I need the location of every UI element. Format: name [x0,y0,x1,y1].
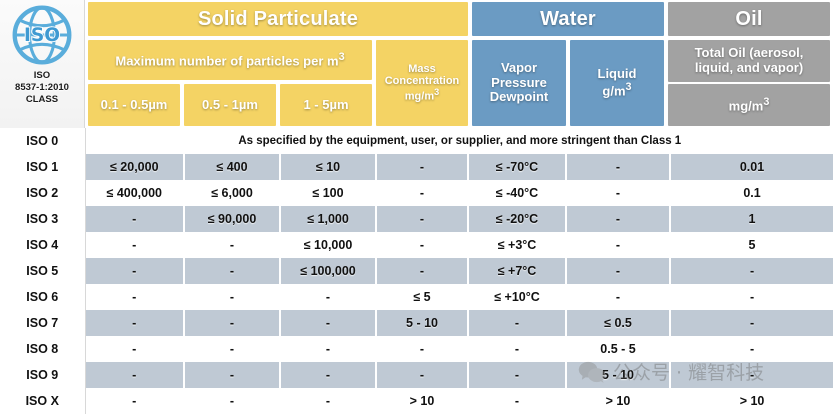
cell-size-1-5: ≤ 10,000 [280,232,376,258]
cell-liquid: - [566,180,670,206]
group-header-solid-particulate-label: Solid Particulate [198,8,358,30]
cell-size-0-5-1: - [184,362,280,388]
cell-dewpoint: ≤ -70°C [468,154,566,180]
cell-size-0-1-0-5: - [85,362,184,388]
cell-size-0-1-0-5: - [85,310,184,336]
iso-caption-line-3: CLASS [15,94,69,106]
cell-size-1-5: ≤ 1,000 [280,206,376,232]
subheader-max-particles-sup: 3 [339,51,345,63]
cell-iso-class: ISO 4 [0,232,85,258]
cell-iso-class: ISO 6 [0,284,85,310]
cell-total-oil: - [670,284,834,310]
cell-iso-class: ISO 7 [0,310,85,336]
liquid-line-2: g/m [602,84,625,99]
mass-concentration-line-2: Concentration [385,75,460,87]
column-header-size-1-5: 1 - 5µm [280,84,372,126]
total-oil-units: mg/m [729,98,764,113]
cell-mass-concentration: - [376,362,468,388]
cell-mass-concentration: ≤ 5 [376,284,468,310]
iso-standard-caption: ISO 8537-1:2010 CLASS [15,70,69,106]
cell-iso-class: ISO X [0,388,85,414]
column-header-total-oil-units: mg/m3 [668,84,830,126]
column-header-size-0-1-0-5-label: 0.1 - 0.5µm [101,98,168,113]
table-row: ISO X---> 10-> 10> 10 [0,388,834,414]
cell-iso-class: ISO 8 [0,336,85,362]
cell-liquid: > 10 [566,388,670,414]
cell-size-0-1-0-5: ≤ 400,000 [85,180,184,206]
group-header-water: Water [472,2,664,36]
column-header-vapor-pressure-dewpoint: Vapor Pressure Dewpoint [472,40,566,126]
group-header-water-label: Water [540,8,596,30]
cell-size-0-5-1: - [184,232,280,258]
cell-total-oil: - [670,362,834,388]
column-header-total-oil: Total Oil (aerosol, liquid, and vapor) [668,40,830,82]
cell-size-1-5: - [280,336,376,362]
cell-size-1-5: - [280,284,376,310]
subheader-max-particles: Maximum number of particles per m3 [88,40,372,80]
cell-mass-concentration: - [376,180,468,206]
cell-total-oil: 0.1 [670,180,834,206]
cell-size-0-1-0-5: ≤ 20,000 [85,154,184,180]
cell-size-0-1-0-5: - [85,232,184,258]
column-header-size-0-1-0-5: 0.1 - 0.5µm [88,84,180,126]
table-row: ISO 2≤ 400,000≤ 6,000≤ 100-≤ -40°C-0.1 [0,180,834,206]
table-row: ISO 7---5 - 10-≤ 0.5- [0,310,834,336]
iso-class-table-body: ISO 0As specified by the equipment, user… [0,128,834,414]
cell-mass-concentration: - [376,232,468,258]
table-row: ISO 0As specified by the equipment, user… [0,128,834,154]
iso-caption-line-1: ISO [15,70,69,82]
vapor-pressure-dewpoint-line-2: Pressure [491,76,547,91]
cell-size-0-1-0-5: - [85,258,184,284]
cell-iso-class: ISO 0 [0,128,85,154]
cell-dewpoint: ≤ -40°C [468,180,566,206]
vapor-pressure-dewpoint-line-3: Dewpoint [490,90,549,105]
table-row: ISO 3-≤ 90,000≤ 1,000-≤ -20°C-1 [0,206,834,232]
table-row: ISO 8-----0.5 - 5- [0,336,834,362]
cell-liquid: - [566,154,670,180]
cell-dewpoint: - [468,362,566,388]
cell-size-0-5-1: - [184,310,280,336]
cell-mass-concentration: - [376,154,468,180]
cell-size-0-5-1: ≤ 90,000 [184,206,280,232]
cell-mass-concentration: > 10 [376,388,468,414]
column-header-size-1-5-label: 1 - 5µm [303,98,348,113]
cell-dewpoint: ≤ -20°C [468,206,566,232]
table-row: ISO 9-----5 - 10- [0,362,834,388]
table-row: ISO 1≤ 20,000≤ 400≤ 10-≤ -70°C-0.01 [0,154,834,180]
column-header-size-0-5-1-label: 0.5 - 1µm [202,98,258,113]
cell-liquid: - [566,206,670,232]
cell-mass-concentration: - [376,258,468,284]
cell-size-0-5-1: ≤ 6,000 [184,180,280,206]
iso-class-table: ISO 0As specified by the equipment, user… [0,128,834,414]
cell-liquid: - [566,284,670,310]
iso-caption-line-2: 8537-1:2010 [15,82,69,94]
table-row: ISO 5--≤ 100,000-≤ +7°C-- [0,258,834,284]
column-header-size-0-5-1: 0.5 - 1µm [184,84,276,126]
cell-iso-class: ISO 9 [0,362,85,388]
table-header: ISO ISO 8537-1:2010 CLASS Solid Particul… [0,0,834,128]
cell-size-1-5: ≤ 100,000 [280,258,376,284]
cell-size-0-1-0-5: - [85,284,184,310]
iso-purity-table-document: ISO ISO 8537-1:2010 CLASS Solid Particul… [0,0,834,416]
group-header-oil: Oil [668,2,830,36]
cell-size-0-5-1: - [184,258,280,284]
cell-size-1-5: - [280,388,376,414]
cell-iso-class: ISO 1 [0,154,85,180]
cell-total-oil: - [670,336,834,362]
total-oil-line-2: liquid, and vapor) [695,61,803,76]
cell-total-oil: 0.01 [670,154,834,180]
liquid-line-1: Liquid [598,67,637,82]
cell-total-oil: 1 [670,206,834,232]
total-oil-line-1: Total Oil (aerosol, [695,46,804,61]
svg-text:ISO: ISO [24,25,60,46]
cell-dewpoint: ≤ +10°C [468,284,566,310]
cell-mass-concentration: - [376,206,468,232]
cell-iso-class: ISO 2 [0,180,85,206]
cell-size-0-1-0-5: - [85,336,184,362]
liquid-line-2-sup: 3 [626,81,632,93]
vapor-pressure-dewpoint-line-1: Vapor [501,61,537,76]
mass-concentration-line-1: Mass [408,63,436,75]
cell-size-1-5: - [280,362,376,388]
group-header-solid-particulate: Solid Particulate [88,2,468,36]
total-oil-units-sup: 3 [763,96,769,108]
cell-liquid: 0.5 - 5 [566,336,670,362]
mass-concentration-line-3: mg/m [405,91,434,103]
cell-dewpoint: ≤ +7°C [468,258,566,284]
cell-size-1-5: - [280,310,376,336]
cell-size-0-5-1: - [184,388,280,414]
cell-size-0-5-1: - [184,284,280,310]
cell-size-0-5-1: ≤ 400 [184,154,280,180]
cell-size-1-5: ≤ 10 [280,154,376,180]
cell-iso0-note: As specified by the equipment, user, or … [85,128,834,154]
cell-total-oil: > 10 [670,388,834,414]
table-row: ISO 4--≤ 10,000-≤ +3°C-5 [0,232,834,258]
cell-total-oil: 5 [670,232,834,258]
table-row: ISO 6---≤ 5≤ +10°C-- [0,284,834,310]
cell-liquid: - [566,258,670,284]
iso-class-logo-cell: ISO ISO 8537-1:2010 CLASS [0,0,85,128]
cell-dewpoint: - [468,310,566,336]
group-header-oil-label: Oil [735,8,762,30]
cell-iso-class: ISO 5 [0,258,85,284]
cell-size-0-1-0-5: - [85,206,184,232]
iso-globe-icon: ISO [11,4,73,66]
cell-dewpoint: - [468,336,566,362]
column-header-liquid: Liquid g/m3 [570,40,664,126]
cell-mass-concentration: - [376,336,468,362]
cell-mass-concentration: 5 - 10 [376,310,468,336]
cell-liquid: ≤ 0.5 [566,310,670,336]
column-header-mass-concentration: Mass Concentration mg/m3 [376,40,468,126]
cell-dewpoint: - [468,388,566,414]
cell-total-oil: - [670,310,834,336]
cell-size-1-5: ≤ 100 [280,180,376,206]
cell-liquid: - [566,232,670,258]
cell-size-0-1-0-5: - [85,388,184,414]
cell-size-0-5-1: - [184,336,280,362]
cell-liquid: 5 - 10 [566,362,670,388]
cell-iso-class: ISO 3 [0,206,85,232]
cell-total-oil: - [670,258,834,284]
cell-dewpoint: ≤ +3°C [468,232,566,258]
subheader-max-particles-label: Maximum number of particles per m [115,53,338,68]
mass-concentration-line-3-sup: 3 [434,87,439,97]
